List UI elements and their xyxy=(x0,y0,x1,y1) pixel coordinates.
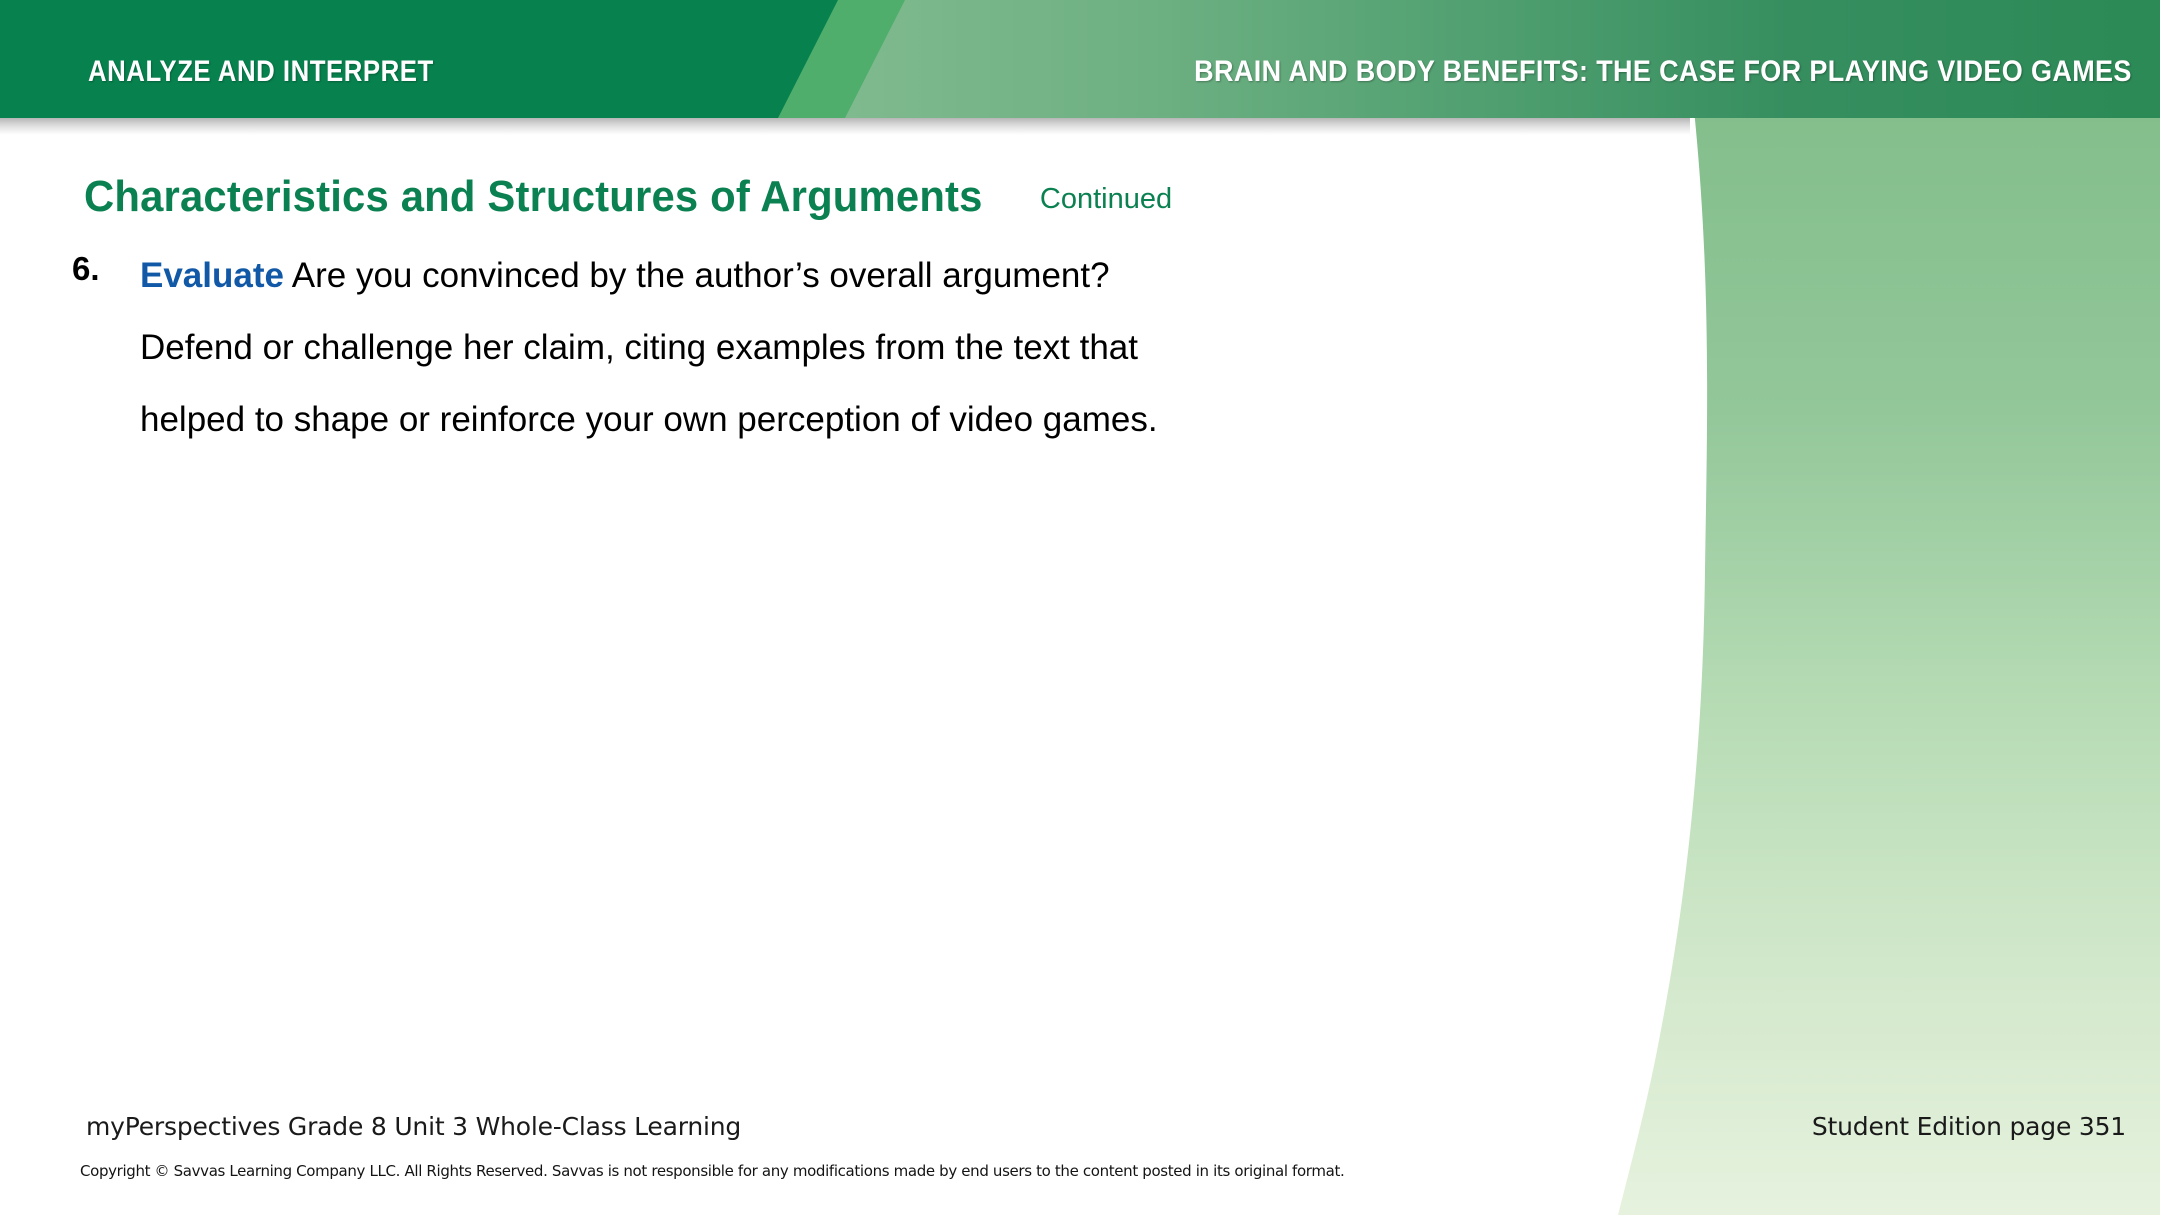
question-line-1: Evaluate Are you convinced by the author… xyxy=(140,240,1552,312)
slide-canvas: Characteristics and Structures of Argume… xyxy=(0,0,2160,1215)
question-text: Evaluate Are you convinced by the author… xyxy=(140,240,1552,456)
question-line-3: helped to shape or reinforce your own pe… xyxy=(140,384,1552,456)
footer-page-reference: Student Edition page 351 xyxy=(1812,1112,2126,1141)
section-heading-continued: Continued xyxy=(1040,183,1172,215)
footer-copyright: Copyright © Savvas Learning Company LLC.… xyxy=(80,1162,1344,1180)
question-keyword: Evaluate xyxy=(140,256,284,295)
section-heading: Characteristics and Structures of Argume… xyxy=(84,172,1172,222)
header-title: BRAIN AND BODY BENEFITS: THE CASE FOR PL… xyxy=(1194,55,2132,89)
question-line-1-text: Are you convinced by the author’s overal… xyxy=(292,256,1110,295)
question-line-2: Defend or challenge her claim, citing ex… xyxy=(140,312,1552,384)
question-block: 6. Evaluate Are you convinced by the aut… xyxy=(72,240,1552,456)
header-dropshadow xyxy=(0,118,1690,135)
footer-course-label: myPerspectives Grade 8 Unit 3 Whole-Clas… xyxy=(86,1112,741,1141)
question-number: 6. xyxy=(72,250,100,288)
header-band: ANALYZE AND INTERPRET BRAIN AND BODY BEN… xyxy=(0,0,2160,118)
header-eyebrow-label: ANALYZE AND INTERPRET xyxy=(88,55,434,89)
slide-content: Characteristics and Structures of Argume… xyxy=(0,0,2160,1215)
section-heading-main: Characteristics and Structures of Argume… xyxy=(84,172,983,222)
